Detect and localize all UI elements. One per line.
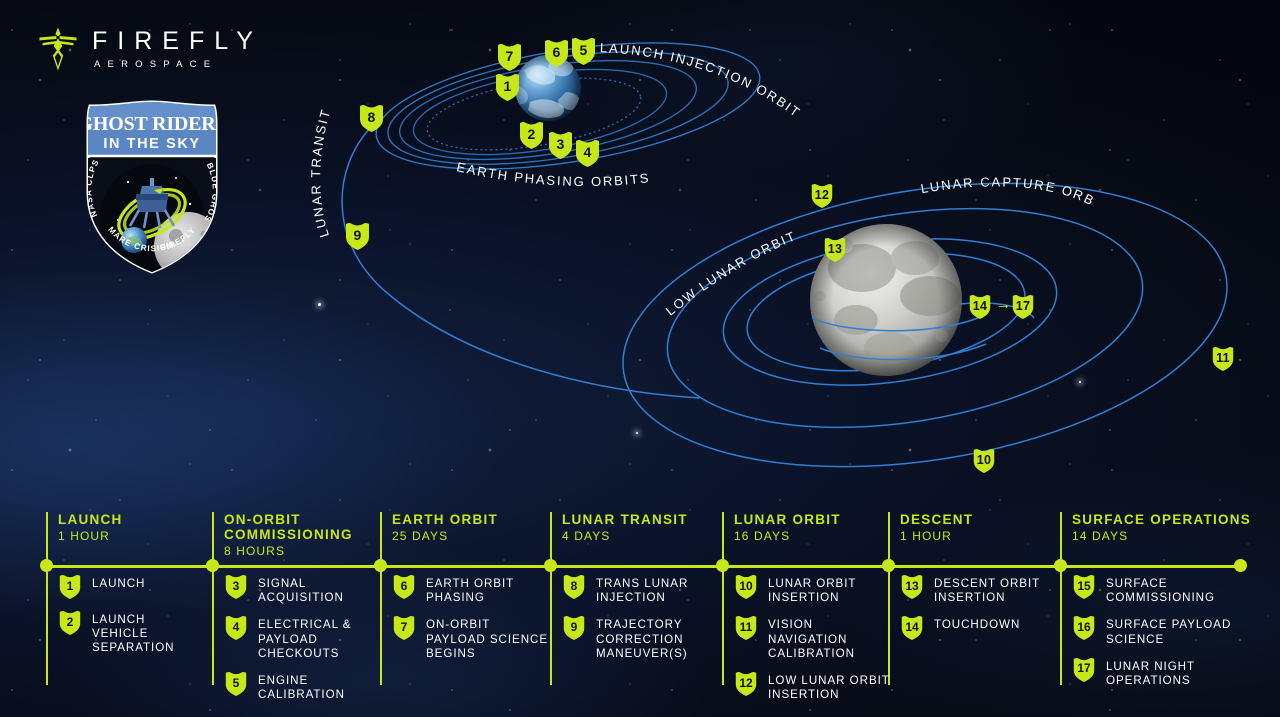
marker-number: 5 <box>579 42 587 58</box>
phase-title: LAUNCH <box>58 512 123 527</box>
marker-number: 11 <box>1216 351 1230 365</box>
step-badge-7: 7 <box>392 614 416 641</box>
step-badge-13: 13 <box>900 573 924 600</box>
step-number: 16 <box>1077 620 1090 634</box>
diagram-marker-7[interactable]: 7 <box>496 42 523 72</box>
step-number: 3 <box>233 579 240 593</box>
step-number: 7 <box>401 620 408 634</box>
phase-duration: 1 HOUR <box>58 529 123 543</box>
step-label: SIGNALACQUISITION <box>258 573 344 605</box>
diagram-marker-6[interactable]: 6 <box>543 38 570 68</box>
step-label: VISIONNAVIGATIONCALIBRATION <box>768 614 855 661</box>
step-number: 5 <box>233 676 240 690</box>
diagram-marker-9[interactable]: 9 <box>344 221 371 251</box>
diagram-marker-3[interactable]: 3 <box>547 130 574 160</box>
step-number: 12 <box>739 676 752 690</box>
step-label: LAUNCH <box>92 573 145 591</box>
step-label: ENGINECALIBRATION <box>258 670 345 702</box>
step-number: 14 <box>905 620 918 634</box>
step-badge-8: 8 <box>562 573 586 600</box>
phase-duration: 16 DAYS <box>734 529 841 543</box>
phase-title: LUNAR TRANSIT <box>562 512 688 527</box>
timeline-axis-end-dot <box>1234 559 1247 572</box>
phase-duration: 25 DAYS <box>392 529 498 543</box>
step-label: ON-ORBITPAYLOAD SCIENCEBEGINS <box>426 614 548 661</box>
timeline-phase-header: ON-ORBITCOMMISSIONING8 HOURS <box>224 512 353 558</box>
phase-duration: 8 HOURS <box>224 544 353 558</box>
timeline-step[interactable]: 6EARTH ORBITPHASING <box>392 573 548 605</box>
marker-number: 13 <box>828 242 843 256</box>
timeline-step[interactable]: 10LUNAR ORBITINSERTION <box>734 573 890 605</box>
timeline-phase-steps: 1LAUNCH2LAUNCHVEHICLESEPARATION <box>58 573 175 665</box>
timeline-step[interactable]: 11VISIONNAVIGATIONCALIBRATION <box>734 614 890 661</box>
timeline-step[interactable]: 2LAUNCHVEHICLESEPARATION <box>58 609 175 656</box>
timeline-step[interactable]: 16SURFACE PAYLOADSCIENCE <box>1072 614 1231 646</box>
lunar-transit-path <box>342 126 700 398</box>
step-badge-5: 5 <box>224 670 248 697</box>
step-number: 8 <box>571 579 578 593</box>
step-badge-10: 10 <box>734 573 758 600</box>
timeline-step[interactable]: 8TRANS LUNARINJECTION <box>562 573 688 605</box>
marker-number: 1 <box>503 78 511 94</box>
timeline-step[interactable]: 1LAUNCH <box>58 573 175 600</box>
step-label: LOW LUNAR ORBITINSERTION <box>768 670 890 702</box>
diagram-marker-11[interactable]: 11 <box>1211 345 1235 372</box>
phase-duration: 14 DAYS <box>1072 529 1251 543</box>
step-number: 1 <box>67 579 74 593</box>
step-badge-6: 6 <box>392 573 416 600</box>
timeline-phase-steps: 3SIGNALACQUISITION4ELECTRICAL &PAYLOADCH… <box>224 573 351 711</box>
step-number: 13 <box>905 579 918 593</box>
phase-title: EARTH ORBIT <box>392 512 498 527</box>
timeline-step[interactable]: 13DESCENT ORBITINSERTION <box>900 573 1040 605</box>
diagram-marker-2[interactable]: 2 <box>518 120 545 150</box>
step-badge-16: 16 <box>1072 614 1096 641</box>
step-label: LAUNCHVEHICLESEPARATION <box>92 609 175 656</box>
phase-duration: 1 HOUR <box>900 529 973 543</box>
step-badge-1: 1 <box>58 573 82 600</box>
step-number: 10 <box>739 579 752 593</box>
step-number: 15 <box>1077 579 1090 593</box>
timeline-step[interactable]: 17LUNAR NIGHTOPERATIONS <box>1072 656 1231 688</box>
phase-title: DESCENT <box>900 512 973 527</box>
step-number: 4 <box>233 620 240 634</box>
marker-number: 6 <box>552 44 560 60</box>
timeline-step[interactable]: 15SURFACECOMMISSIONING <box>1072 573 1231 605</box>
step-number: 6 <box>401 579 408 593</box>
timeline-phase-steps: 8TRANS LUNARINJECTION9TRAJECTORYCORRECTI… <box>562 573 688 670</box>
marker-number: 14 <box>973 299 988 313</box>
phase-duration: 4 DAYS <box>562 529 688 543</box>
step-badge-3: 3 <box>224 573 248 600</box>
phase-title: LUNAR ORBIT <box>734 512 841 527</box>
marker-number: 17 <box>1016 299 1031 313</box>
diagram-marker-17[interactable]: 17 <box>1011 293 1035 320</box>
diagram-marker-5[interactable]: 5 <box>570 36 597 66</box>
orbit-diagram <box>0 0 1280 500</box>
marker-number: 7 <box>505 48 513 64</box>
timeline-phase-steps: 6EARTH ORBITPHASING7ON-ORBITPAYLOAD SCIE… <box>392 573 548 670</box>
step-label: TRAJECTORYCORRECTIONMANEUVER(S) <box>596 614 688 661</box>
marker-number: 3 <box>556 136 564 152</box>
step-badge-9: 9 <box>562 614 586 641</box>
mission-profile-infographic: FIREFLY AEROSPACE <box>0 0 1280 717</box>
diagram-marker-10[interactable]: 10 <box>972 447 996 474</box>
step-number: 2 <box>67 615 74 629</box>
step-label: EARTH ORBITPHASING <box>426 573 514 605</box>
marker-number: 2 <box>527 126 535 142</box>
marker-number: 9 <box>353 227 361 243</box>
timeline-step[interactable]: 5ENGINECALIBRATION <box>224 670 351 702</box>
timeline-phase-header: LUNAR ORBIT16 DAYS <box>734 512 841 543</box>
mission-timeline: LAUNCH1 HOUR1LAUNCH2LAUNCHVEHICLESEPARAT… <box>0 500 1280 717</box>
marker-number: 10 <box>977 453 992 467</box>
step-label: TOUCHDOWN <box>934 614 1020 632</box>
marker-number: 8 <box>367 109 375 125</box>
step-label: LUNAR NIGHTOPERATIONS <box>1106 656 1195 688</box>
timeline-divider <box>380 512 382 685</box>
timeline-divider <box>46 512 48 685</box>
phase-title: ON-ORBITCOMMISSIONING <box>224 512 353 542</box>
diagram-marker-14[interactable]: 14 <box>968 293 992 320</box>
step-number: 17 <box>1077 661 1090 675</box>
step-label: LUNAR ORBITINSERTION <box>768 573 856 605</box>
diagram-marker-1[interactable]: 1 <box>494 72 521 102</box>
timeline-divider <box>212 512 214 685</box>
timeline-phase-header: DESCENT1 HOUR <box>900 512 973 543</box>
timeline-step[interactable]: 9TRAJECTORYCORRECTIONMANEUVER(S) <box>562 614 688 661</box>
timeline-divider <box>550 512 552 685</box>
diagram-marker-13[interactable]: 13 <box>823 236 847 263</box>
timeline-phase-steps: 10LUNAR ORBITINSERTION11VISIONNAVIGATION… <box>734 573 890 711</box>
timeline-step[interactable]: 3SIGNALACQUISITION <box>224 573 351 605</box>
step-badge-17: 17 <box>1072 656 1096 683</box>
step-badge-2: 2 <box>58 609 82 636</box>
step-number: 9 <box>571 620 578 634</box>
marker-transition-arrow-icon: → <box>996 296 1011 313</box>
step-badge-14: 14 <box>900 614 924 641</box>
step-number: 11 <box>740 620 753 634</box>
timeline-step[interactable]: 14TOUCHDOWN <box>900 614 1040 641</box>
diagram-marker-4[interactable]: 4 <box>574 138 601 168</box>
step-label: ELECTRICAL &PAYLOADCHECKOUTS <box>258 614 351 661</box>
timeline-divider <box>1060 512 1062 685</box>
timeline-step[interactable]: 7ON-ORBITPAYLOAD SCIENCEBEGINS <box>392 614 548 661</box>
step-label: SURFACE PAYLOADSCIENCE <box>1106 614 1231 646</box>
timeline-phase-steps: 15SURFACECOMMISSIONING16SURFACE PAYLOADS… <box>1072 573 1231 697</box>
step-badge-11: 11 <box>734 614 758 641</box>
step-label: SURFACECOMMISSIONING <box>1106 573 1215 605</box>
timeline-phase-header: EARTH ORBIT25 DAYS <box>392 512 498 543</box>
diagram-marker-8[interactable]: 8 <box>358 103 385 133</box>
diagram-marker-12[interactable]: 12 <box>810 182 834 209</box>
timeline-phase-header: LAUNCH1 HOUR <box>58 512 123 543</box>
step-badge-15: 15 <box>1072 573 1096 600</box>
marker-number: 12 <box>815 188 830 202</box>
step-label: TRANS LUNARINJECTION <box>596 573 688 605</box>
timeline-divider <box>722 512 724 685</box>
step-label: DESCENT ORBITINSERTION <box>934 573 1040 605</box>
step-badge-12: 12 <box>734 670 758 697</box>
timeline-step[interactable]: 4ELECTRICAL &PAYLOADCHECKOUTS <box>224 614 351 661</box>
timeline-phase-header: LUNAR TRANSIT4 DAYS <box>562 512 688 543</box>
timeline-phase-steps: 13DESCENT ORBITINSERTION14TOUCHDOWN <box>900 573 1040 650</box>
marker-number: 4 <box>583 144 591 160</box>
timeline-phase-header: SURFACE OPERATIONS14 DAYS <box>1072 512 1251 543</box>
phase-title: SURFACE OPERATIONS <box>1072 512 1251 527</box>
timeline-step[interactable]: 12LOW LUNAR ORBITINSERTION <box>734 670 890 702</box>
step-badge-4: 4 <box>224 614 248 641</box>
